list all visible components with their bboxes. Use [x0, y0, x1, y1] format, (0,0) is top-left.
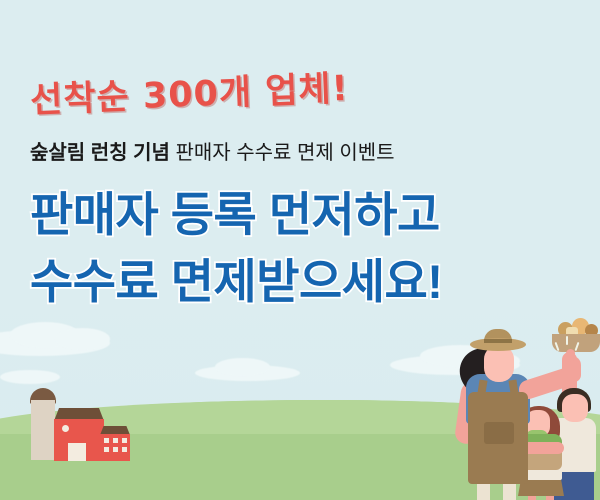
promo-headline-line-1: 판매자 등록 먼저하고	[30, 182, 590, 249]
apron-pocket	[484, 422, 514, 444]
shed-window-icon	[104, 438, 109, 443]
hat-band-icon	[484, 339, 512, 343]
shed-window-icon	[122, 447, 127, 452]
farm-illustration	[16, 388, 126, 468]
cloud-icon	[0, 370, 60, 384]
man-head	[562, 394, 588, 422]
sparkle-icon	[566, 336, 568, 345]
farm-silo-icon	[31, 400, 55, 460]
promo-banner: 선착순 300개 업체! 숲살림 런칭 기념 판매자 수수료 면제 이벤트 판매…	[0, 0, 600, 500]
promo-subtitle-rest: 판매자 수수료 면제 이벤트	[170, 142, 395, 164]
promo-headline-line-2: 수수료 면제받으세요!	[30, 249, 590, 316]
cloud-icon	[215, 358, 270, 376]
people-illustration	[440, 330, 600, 500]
shed-window-icon	[122, 438, 127, 443]
shed-window-icon	[113, 438, 118, 443]
shed-window-icon	[104, 447, 109, 452]
promo-headline: 판매자 등록 먼저하고 수수료 면제받으세요!	[30, 182, 590, 315]
cloud-icon	[55, 328, 110, 350]
farmer-head	[484, 346, 514, 382]
promo-subtitle-strong: 숲살림 런칭 기념	[30, 142, 170, 164]
barn-door-icon	[68, 443, 86, 461]
promo-subtitle: 숲살림 런칭 기념 판매자 수수료 면제 이벤트	[30, 136, 395, 165]
promo-eyebrow-text: 선착순 300개 업체!	[29, 60, 349, 123]
shed-window-icon	[113, 447, 118, 452]
thumb-icon	[566, 349, 575, 362]
barn-window-icon	[62, 425, 69, 432]
